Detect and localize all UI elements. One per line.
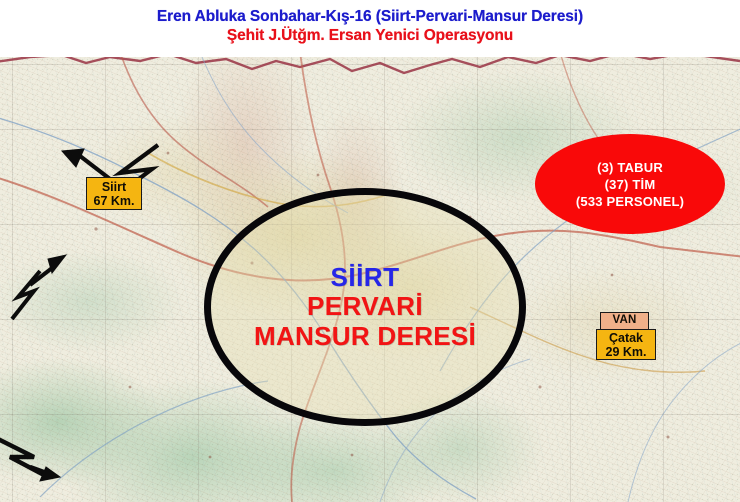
arrow-to-catak <box>12 255 66 319</box>
page-title-primary: Eren Abluka Sonbahar-Kış-16 (Siirt-Perva… <box>0 0 740 26</box>
province-label-van-text: VAN <box>601 314 648 326</box>
title-header: Eren Abluka Sonbahar-Kış-16 (Siirt-Perva… <box>0 0 740 57</box>
distance-label-siirt-distance: 67 Km. <box>87 195 141 209</box>
distance-label-catak-name: Çatak <box>597 332 655 346</box>
arrow-to-beytussebap <box>0 439 60 481</box>
force-summary-teams: (37) TİM <box>605 176 656 193</box>
force-summary-personnel: (533 PERSONEL) <box>576 193 684 210</box>
distance-label-catak-distance: 29 Km. <box>597 346 655 360</box>
distance-label-siirt-name: Siirt <box>87 181 141 195</box>
distance-label-siirt[interactable]: Siirt 67 Km. <box>86 177 142 210</box>
page-title-secondary: Şehit J.Ütğm. Ersan Yenici Operasyonu <box>0 26 740 45</box>
arrow-annotations <box>0 57 740 502</box>
force-summary-battalions: (3) TABUR <box>597 159 663 176</box>
distance-label-catak[interactable]: Çatak 29 Km. <box>596 329 656 360</box>
province-label-van[interactable]: VAN <box>600 312 649 330</box>
map-canvas[interactable]: SİİRT PERVARİ MANSUR DERESİ Siirt 67 Km.… <box>0 57 740 502</box>
force-summary-ellipse[interactable]: (3) TABUR (37) TİM (533 PERSONEL) <box>535 134 725 234</box>
